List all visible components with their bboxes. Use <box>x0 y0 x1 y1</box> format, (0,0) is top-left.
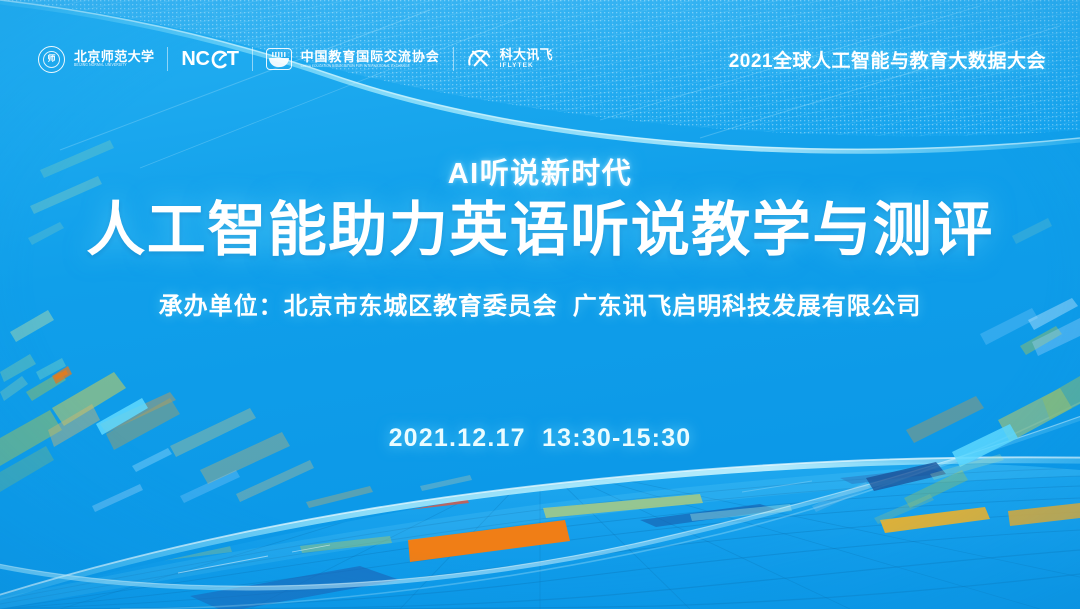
event-time: 13:30-15:30 <box>542 424 691 452</box>
organizer-name-2: 广东讯飞启明科技发展有限公司 <box>573 293 922 320</box>
ceaie-emblem-icon <box>266 48 292 70</box>
floor-slabs <box>190 468 944 609</box>
conference-name: 2021全球人工智能与教育大数据大会 <box>729 46 1046 73</box>
event-subtitle: AI听说新时代 <box>0 150 1080 192</box>
ceaie-emblem-rays <box>272 52 286 57</box>
conference-banner: 师 北京师范大学 BEIJING NORMAL UNIVERSITY NC <box>0 0 1080 609</box>
ncct-wordmark: NC T <box>181 49 238 69</box>
ncct-text-b: T <box>227 49 239 69</box>
organizer-spacer <box>558 293 573 320</box>
bnu-logo-text: 北京师范大学 BEIJING NORMAL UNIVERSITY <box>74 50 154 68</box>
ceaie-name-en: CHINA EDUCATION ASSOCIATION FOR INTERNAT… <box>301 64 440 68</box>
event-headline: 人工智能助力英语听说教学与测评 <box>0 197 1080 263</box>
ceaie-name-cn: 中国教育国际交流协会 <box>301 50 440 64</box>
university-seal-char: 师 <box>43 51 60 68</box>
sponsor-logo-bar: 师 北京师范大学 BEIJING NORMAL UNIVERSITY NC <box>38 46 566 73</box>
iflytek-mark-icon <box>467 48 491 69</box>
ceaie-emblem-bowl <box>269 58 289 67</box>
iflytek-name-cn: 科大讯飞 <box>500 48 553 62</box>
iflytek-name-en: IFLYTEK <box>500 62 553 69</box>
organizer-name-1: 北京市东城区教育委员会 <box>284 293 558 320</box>
ncct-swirl-c-icon <box>209 50 228 69</box>
floor-vanishing-lines <box>0 462 1080 609</box>
logo-beijing-normal-university: 师 北京师范大学 BEIJING NORMAL UNIVERSITY <box>38 46 167 73</box>
perspective-floor <box>0 454 1080 609</box>
banner-header: 师 北京师范大学 BEIJING NORMAL UNIVERSITY NC <box>0 0 1080 118</box>
datetime-spacer <box>526 424 542 452</box>
horizon-arc-primary <box>0 460 1080 607</box>
ncct-text-a: NC <box>181 49 209 69</box>
organizer-line: 承办单位：北京市东城区教育委员会 广东讯飞启明科技发展有限公司 <box>0 286 1080 321</box>
ceaie-logo-text: 中国教育国际交流协会 CHINA EDUCATION ASSOCIATION F… <box>301 50 440 68</box>
bnu-name-en: BEIJING NORMAL UNIVERSITY <box>74 64 154 69</box>
floor-colored-tiles <box>0 470 1080 562</box>
logo-ceaie: 中国教育国际交流协会 CHINA EDUCATION ASSOCIATION F… <box>253 48 453 70</box>
university-seal-icon: 师 <box>38 46 65 73</box>
horizon-arc-secondary <box>0 404 1080 588</box>
event-date: 2021.12.17 <box>389 424 526 452</box>
iflytek-logo-text: 科大讯飞 IFLYTEK <box>500 48 553 69</box>
organizer-label: 承办单位： <box>159 293 284 320</box>
logo-ncct: NC T <box>168 49 251 69</box>
floor-horizontal-lines <box>0 468 1080 609</box>
arc-sparkles <box>178 481 812 573</box>
event-datetime: 2021.12.17 13:30-15:30 <box>0 424 1080 453</box>
logo-iflytek: 科大讯飞 IFLYTEK <box>454 48 566 69</box>
floating-shapes <box>0 140 1080 524</box>
